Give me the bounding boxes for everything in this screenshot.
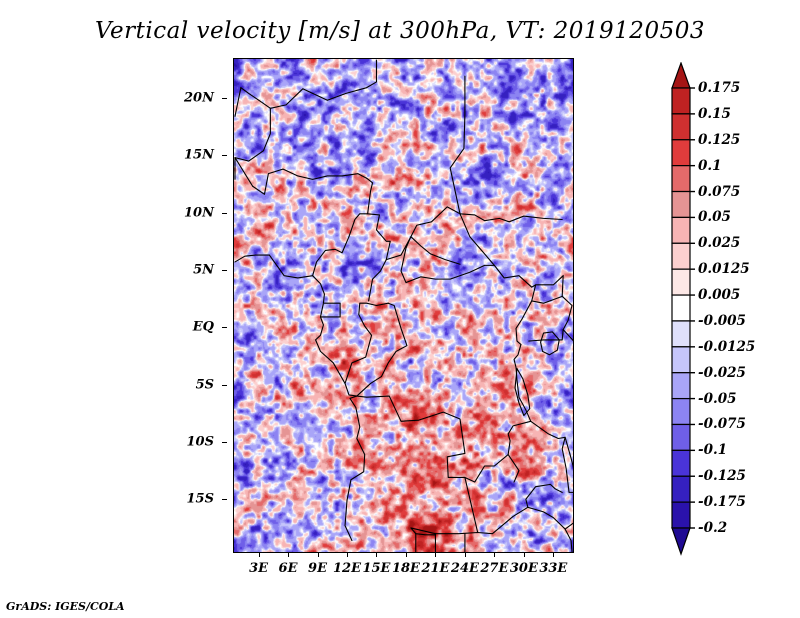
- lat-tick-mark: [222, 98, 227, 99]
- border-line: [563, 330, 573, 369]
- colorbar-swatch: [672, 243, 690, 269]
- lon-tick-mark: [376, 552, 377, 557]
- colorbar-swatch: [672, 140, 690, 166]
- border-line: [531, 421, 565, 438]
- border-line: [465, 455, 508, 483]
- lon-tick-label: 12E: [333, 561, 361, 576]
- border-line: [357, 303, 407, 396]
- lat-tick-mark: [222, 327, 227, 328]
- colorbar-swatch: [672, 114, 690, 140]
- colorbar-tick-label: 0.15: [698, 106, 731, 122]
- lon-tick-label: 30E: [510, 561, 538, 576]
- border-line: [460, 214, 494, 266]
- colorbar-swatch: [672, 347, 690, 373]
- colorbar-tick-label: -0.175: [698, 494, 746, 510]
- colorbar-tick-label: 0.1: [698, 158, 722, 174]
- lon-tick-label: 3E: [249, 561, 268, 576]
- map-panel[interactable]: [233, 58, 574, 553]
- colorbar-swatch: [672, 399, 690, 425]
- border-line: [253, 169, 367, 194]
- colorbar-tick-label: -0.2: [698, 520, 727, 536]
- colorbar-tick-label: 0.025: [698, 235, 740, 251]
- lat-tick-label: 5S: [196, 377, 214, 392]
- colorbar-swatch: [672, 450, 690, 476]
- lon-tick-mark: [494, 552, 495, 557]
- lat-tick-label: 15N: [184, 148, 214, 163]
- border-line: [529, 296, 572, 341]
- border-line: [411, 237, 460, 265]
- colorbar-tick-label: -0.025: [698, 365, 746, 381]
- lat-tick-label: 20N: [184, 91, 214, 106]
- colorbar-swatch: [672, 373, 690, 399]
- lon-tick-mark: [465, 552, 466, 557]
- colorbar-swatch: [672, 192, 690, 218]
- lat-tick-mark: [222, 155, 227, 156]
- border-line: [494, 265, 563, 287]
- border-line: [235, 255, 269, 262]
- lon-tick-label: 27E: [480, 561, 508, 576]
- border-line: [515, 369, 530, 416]
- lat-tick-mark: [222, 270, 227, 271]
- latitude-axis: 20N15N10N5NEQ5S10S15S: [150, 58, 228, 551]
- border-line: [345, 303, 388, 383]
- colorbar-tick-label: -0.1: [698, 442, 727, 458]
- border-line: [450, 76, 465, 214]
- border-line: [435, 533, 477, 535]
- lon-tick-mark: [318, 552, 319, 557]
- border-line: [565, 492, 573, 529]
- border-line: [241, 60, 377, 108]
- border-line: [526, 484, 562, 507]
- lon-tick-label: 6E: [279, 561, 298, 576]
- colorbar-tick-label: -0.05: [698, 391, 736, 407]
- colorbar-tick-label: -0.0125: [698, 339, 755, 355]
- border-line: [401, 237, 494, 283]
- colorbar-swatch: [672, 502, 690, 528]
- lon-tick-label: 18E: [392, 561, 420, 576]
- colorbar-swatch: [672, 166, 690, 192]
- lon-tick-label: 24E: [451, 561, 479, 576]
- colorbar-swatch: [672, 217, 690, 243]
- colorbar-tick-label: -0.075: [698, 416, 746, 432]
- border-line: [369, 260, 387, 301]
- lon-tick-mark: [288, 552, 289, 557]
- border-line: [541, 332, 560, 355]
- colorbar-swatch: [672, 424, 690, 450]
- colorbar-tick-label: 0.175: [698, 80, 740, 96]
- colorbar-tick-label: 0.005: [698, 287, 740, 303]
- lat-tick-mark: [222, 442, 227, 443]
- border-line: [516, 285, 536, 345]
- lat-tick-label: 10N: [184, 205, 214, 220]
- colorbar-tick-label: 0.05: [698, 209, 731, 225]
- colorbar-swatch: [672, 88, 690, 114]
- colorbar-swatch: [672, 476, 690, 502]
- lon-tick-mark: [435, 552, 436, 557]
- border-line: [565, 529, 572, 552]
- colorbar-swatch: [672, 321, 690, 347]
- border-line: [235, 158, 253, 187]
- lon-tick-label: 15E: [362, 561, 390, 576]
- border-line: [313, 214, 368, 276]
- border-line: [478, 507, 565, 533]
- lon-tick-mark: [347, 552, 348, 557]
- border-line: [367, 178, 460, 259]
- lon-tick-label: 9E: [308, 561, 327, 576]
- lat-tick-label: EQ: [193, 320, 214, 335]
- page-title: Vertical velocity [m/s] at 300hPa, VT: 2…: [0, 18, 800, 44]
- colorbar-tick-label: 0.0125: [698, 261, 750, 277]
- border-line: [460, 214, 562, 222]
- lon-tick-mark: [553, 552, 554, 557]
- colorbar-tick-label: 0.125: [698, 132, 740, 148]
- border-line: [269, 255, 364, 540]
- footer-credit: GrADS: IGES/COLA: [6, 600, 125, 613]
- country-borders-overlay: [234, 59, 573, 552]
- lat-tick-mark: [222, 213, 227, 214]
- lon-tick-mark: [406, 552, 407, 557]
- colorbar-tick-label: -0.005: [698, 313, 746, 329]
- lat-tick-label: 10S: [187, 435, 214, 450]
- colorbar-tick-label: -0.125: [698, 468, 746, 484]
- lat-tick-label: 5N: [193, 263, 214, 278]
- lon-tick-label: 33E: [539, 561, 567, 576]
- border-line: [562, 437, 573, 492]
- border-line: [508, 344, 531, 482]
- colorbar-swatches: [670, 62, 700, 562]
- colorbar-extend-high: [672, 63, 690, 88]
- lon-tick-label: 21E: [421, 561, 449, 576]
- longitude-axis: 3E6E9E12E15E18E21E24E27E30E33E: [233, 552, 574, 582]
- colorbar-swatch: [672, 269, 690, 295]
- colorbar-swatch: [672, 295, 690, 321]
- lat-tick-label: 15S: [187, 492, 214, 507]
- border-line: [357, 396, 478, 532]
- lat-tick-mark: [222, 499, 227, 500]
- colorbar-extend-low: [672, 528, 690, 554]
- lon-tick-mark: [259, 552, 260, 557]
- colorbar[interactable]: 0.1750.150.1250.10.0750.050.0250.01250.0…: [670, 62, 790, 562]
- colorbar-tick-label: 0.075: [698, 184, 740, 200]
- lat-tick-mark: [222, 385, 227, 386]
- border-line: [235, 108, 270, 161]
- lon-tick-mark: [524, 552, 525, 557]
- border-line: [411, 528, 436, 535]
- border-line: [235, 88, 241, 117]
